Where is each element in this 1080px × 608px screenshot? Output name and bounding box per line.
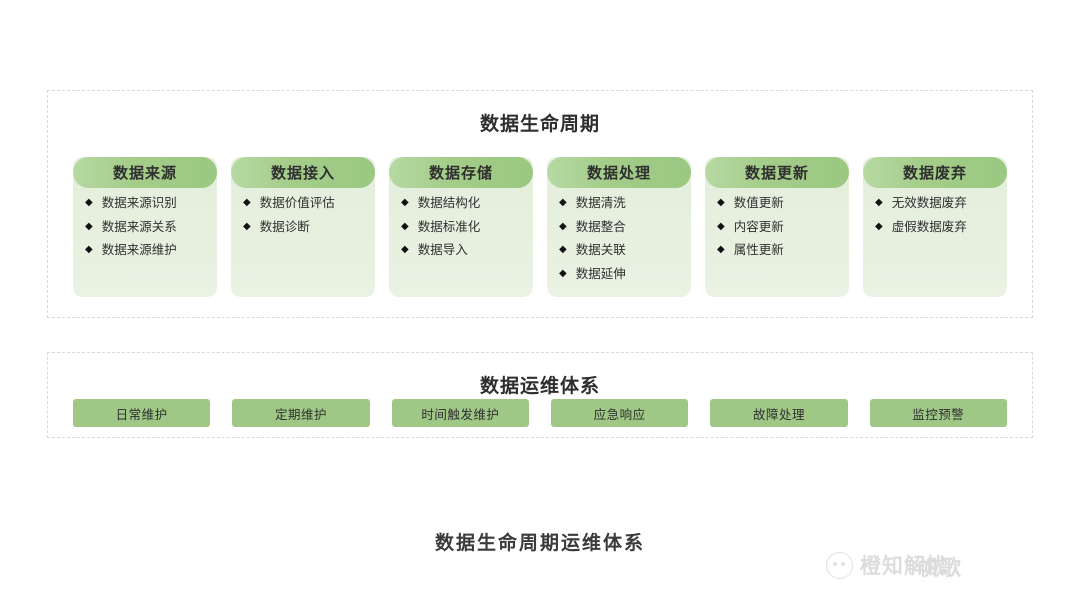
diamond-bullet-icon: ◆ — [559, 245, 567, 255]
diamond-bullet-icon: ◆ — [85, 222, 93, 232]
diamond-bullet-icon: ◆ — [401, 245, 409, 255]
list-item: ◆ 数据关联 — [559, 244, 691, 257]
card-list-data-disposal: ◆ 无效数据废弃 ◆ 虚假数据废弃 — [863, 188, 1007, 233]
lifecycle-card-data-update: 数据更新 ◆ 数值更新 ◆ 内容更新 ◆ 属性更新 — [705, 157, 849, 297]
diamond-bullet-icon: ◆ — [401, 222, 409, 232]
operations-panel-title: 数据运维体系 — [48, 371, 1032, 398]
list-item: ◆ 数据诊断 — [243, 221, 375, 234]
list-item-label: 无效数据废弃 — [892, 197, 967, 210]
list-item-label: 属性更新 — [734, 244, 784, 257]
list-item-label: 数据诊断 — [260, 221, 310, 234]
list-item-label: 虚假数据废弃 — [892, 221, 967, 234]
list-item: ◆ 数据来源识别 — [85, 197, 217, 210]
list-item: ◆ 数据来源关系 — [85, 221, 217, 234]
list-item: ◆ 虚假数据废弃 — [875, 221, 1007, 234]
diagram-canvas: 数据生命周期 数据来源 ◆ 数据来源识别 ◆ 数据来源关系 ◆ 数据来 — [0, 0, 1080, 608]
list-item-label: 数据延伸 — [576, 268, 626, 281]
list-item-label: 数据关联 — [576, 244, 626, 257]
lifecycle-card-data-disposal: 数据废弃 ◆ 无效数据废弃 ◆ 虚假数据废弃 — [863, 157, 1007, 297]
card-header-data-source: 数据来源 — [73, 157, 217, 188]
ops-pill-daily-maintenance: 日常维护 — [73, 399, 210, 427]
list-item: ◆ 数据价值评估 — [243, 197, 375, 210]
operations-pill-row: 日常维护 定期维护 时间触发维护 应急响应 故障处理 监控预警 — [73, 399, 1007, 427]
card-header-data-ingest: 数据接入 — [231, 157, 375, 188]
list-item-label: 数据清洗 — [576, 197, 626, 210]
ops-pill-periodic-maintenance: 定期维护 — [232, 399, 369, 427]
list-item: ◆ 数据结构化 — [401, 197, 533, 210]
data-lifecycle-panel: 数据生命周期 数据来源 ◆ 数据来源识别 ◆ 数据来源关系 ◆ 数据来 — [47, 90, 1033, 318]
list-item: ◆ 无效数据废弃 — [875, 197, 1007, 210]
lifecycle-card-data-processing: 数据处理 ◆ 数据清洗 ◆ 数据整合 ◆ 数据关联 ◆ — [547, 157, 691, 297]
wechat-icon — [826, 552, 853, 579]
diamond-bullet-icon: ◆ — [243, 222, 251, 232]
list-item-label: 数据导入 — [418, 244, 468, 257]
lifecycle-panel-title: 数据生命周期 — [48, 109, 1032, 136]
list-item: ◆ 数据整合 — [559, 221, 691, 234]
list-item-label: 数值更新 — [734, 197, 784, 210]
ops-pill-fault-handling: 故障处理 — [710, 399, 847, 427]
list-item: ◆ 数据来源维护 — [85, 244, 217, 257]
ops-pill-emergency-response: 应急响应 — [551, 399, 688, 427]
card-header-data-update: 数据更新 — [705, 157, 849, 188]
ops-pill-monitoring-alerting: 监控预警 — [870, 399, 1007, 427]
diamond-bullet-icon: ◆ — [243, 198, 251, 208]
card-list-data-processing: ◆ 数据清洗 ◆ 数据整合 ◆ 数据关联 ◆ 数据延伸 — [547, 188, 691, 280]
diamond-bullet-icon: ◆ — [717, 222, 725, 232]
diamond-bullet-icon: ◆ — [85, 198, 93, 208]
list-item: ◆ 数据标准化 — [401, 221, 533, 234]
list-item-label: 数据结构化 — [418, 197, 481, 210]
card-list-data-source: ◆ 数据来源识别 ◆ 数据来源关系 ◆ 数据来源维护 — [73, 188, 217, 257]
watermark-ghost-text: 帆歌 — [918, 552, 962, 582]
ops-pill-time-triggered-maintenance: 时间触发维护 — [392, 399, 529, 427]
card-header-data-processing: 数据处理 — [547, 157, 691, 188]
diamond-bullet-icon: ◆ — [559, 269, 567, 279]
diamond-bullet-icon: ◆ — [717, 198, 725, 208]
lifecycle-card-data-ingest: 数据接入 ◆ 数据价值评估 ◆ 数据诊断 — [231, 157, 375, 297]
card-header-data-disposal: 数据废弃 — [863, 157, 1007, 188]
diamond-bullet-icon: ◆ — [559, 222, 567, 232]
list-item: ◆ 数据延伸 — [559, 268, 691, 281]
card-list-data-storage: ◆ 数据结构化 ◆ 数据标准化 ◆ 数据导入 — [389, 188, 533, 257]
lifecycle-card-data-source: 数据来源 ◆ 数据来源识别 ◆ 数据来源关系 ◆ 数据来源维护 — [73, 157, 217, 297]
diamond-bullet-icon: ◆ — [875, 222, 883, 232]
list-item: ◆ 内容更新 — [717, 221, 849, 234]
card-list-data-update: ◆ 数值更新 ◆ 内容更新 ◆ 属性更新 — [705, 188, 849, 257]
list-item-label: 数据来源维护 — [102, 244, 177, 257]
list-item: ◆ 数据导入 — [401, 244, 533, 257]
list-item: ◆ 数据清洗 — [559, 197, 691, 210]
lifecycle-cards-row: 数据来源 ◆ 数据来源识别 ◆ 数据来源关系 ◆ 数据来源维护 — [73, 157, 1007, 297]
list-item-label: 数据标准化 — [418, 221, 481, 234]
list-item-label: 数据来源关系 — [102, 221, 177, 234]
diamond-bullet-icon: ◆ — [875, 198, 883, 208]
diagram-caption: 数据生命周期运维体系 — [0, 528, 1080, 555]
list-item: ◆ 属性更新 — [717, 244, 849, 257]
card-list-data-ingest: ◆ 数据价值评估 ◆ 数据诊断 — [231, 188, 375, 233]
diamond-bullet-icon: ◆ — [401, 198, 409, 208]
lifecycle-card-data-storage: 数据存储 ◆ 数据结构化 ◆ 数据标准化 ◆ 数据导入 — [389, 157, 533, 297]
list-item-label: 数据价值评估 — [260, 197, 335, 210]
diamond-bullet-icon: ◆ — [559, 198, 567, 208]
diamond-bullet-icon: ◆ — [717, 245, 725, 255]
list-item-label: 数据整合 — [576, 221, 626, 234]
card-header-data-storage: 数据存储 — [389, 157, 533, 188]
data-operations-panel: 数据运维体系 日常维护 定期维护 时间触发维护 应急响应 故障处理 监控预警 — [47, 352, 1033, 438]
diamond-bullet-icon: ◆ — [85, 245, 93, 255]
list-item-label: 内容更新 — [734, 221, 784, 234]
list-item: ◆ 数值更新 — [717, 197, 849, 210]
list-item-label: 数据来源识别 — [102, 197, 177, 210]
